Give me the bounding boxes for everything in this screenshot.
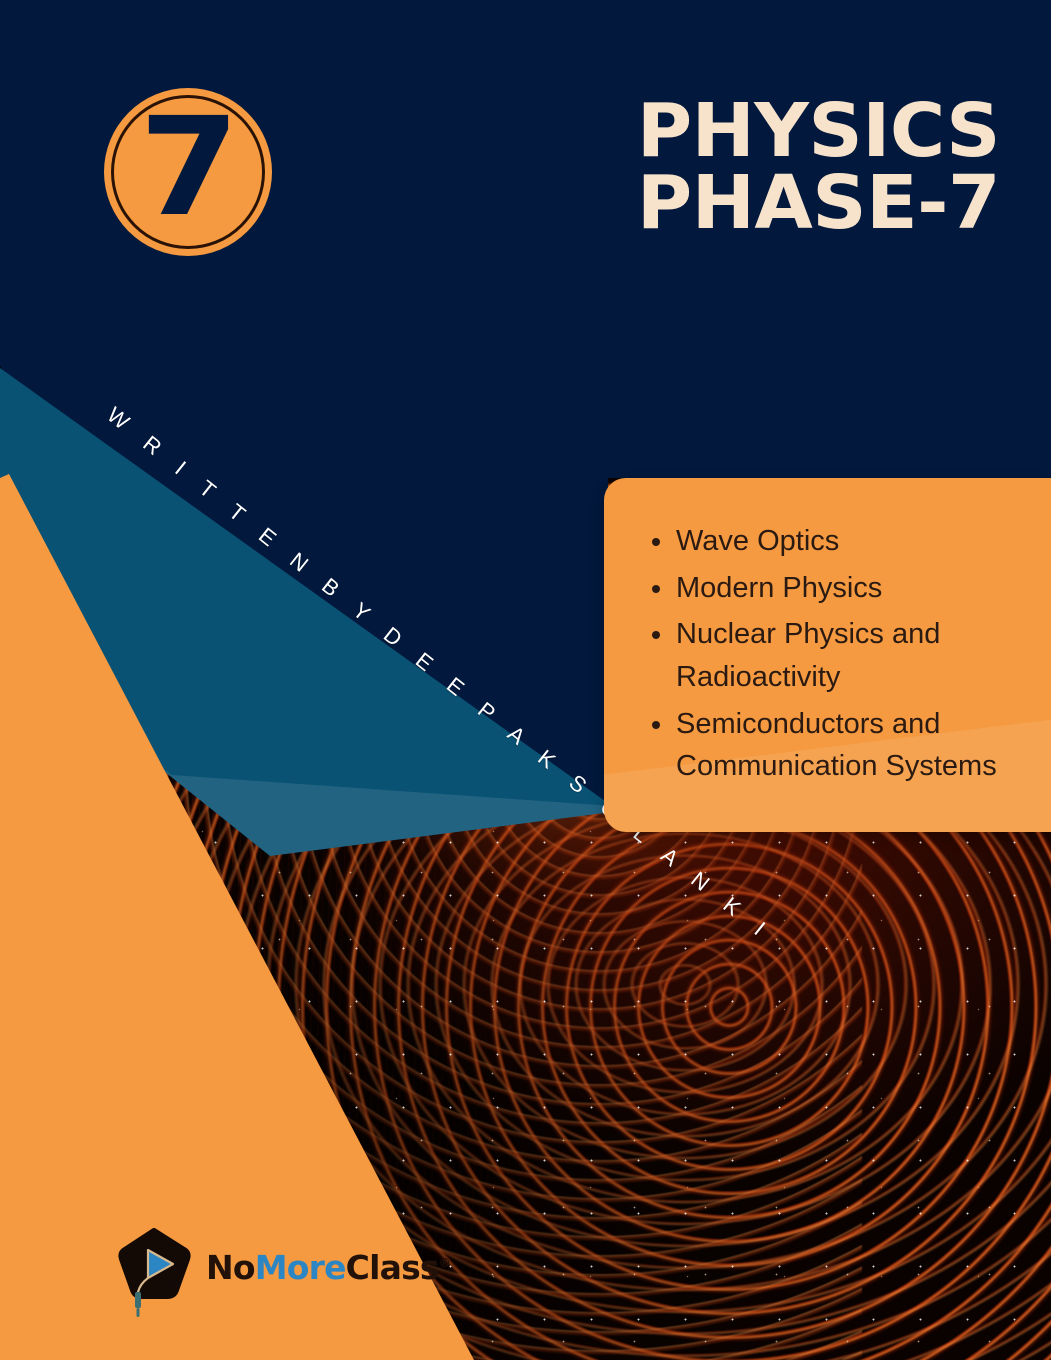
nomoreclass-pentagon-play-icon [118, 1228, 192, 1320]
registered-trademark-icon: ® [439, 1256, 450, 1270]
topics-list: Wave Optics Modern Physics Nuclear Physi… [650, 520, 1033, 788]
publisher-logo: NoMoreClass® [118, 1228, 450, 1320]
list-item: Nuclear Physics and Radioactivity [676, 613, 1033, 698]
phase-number-badge: 7 [104, 88, 272, 256]
publisher-wordmark: NoMoreClass® [206, 1248, 450, 1287]
wordmark-part-more: More [255, 1248, 346, 1287]
badge-number-label: 7 [139, 100, 237, 236]
wordmark-part-class: Class [346, 1248, 439, 1287]
title-line-2: PHASE-7 [286, 168, 1000, 240]
title-line-1: PHYSICS [286, 96, 1000, 168]
page-title: PHYSICS PHASE-7 [300, 96, 1000, 240]
topics-callout-box: Wave Optics Modern Physics Nuclear Physi… [604, 478, 1051, 832]
list-item: Semiconductors and Communication Systems [676, 703, 1033, 788]
wordmark-part-no: No [206, 1248, 255, 1287]
book-cover: 7 PHYSICS PHASE-7 W R I T T E N B Y D E … [0, 0, 1051, 1360]
list-item: Wave Optics [676, 520, 1033, 563]
list-item: Modern Physics [676, 567, 1033, 610]
